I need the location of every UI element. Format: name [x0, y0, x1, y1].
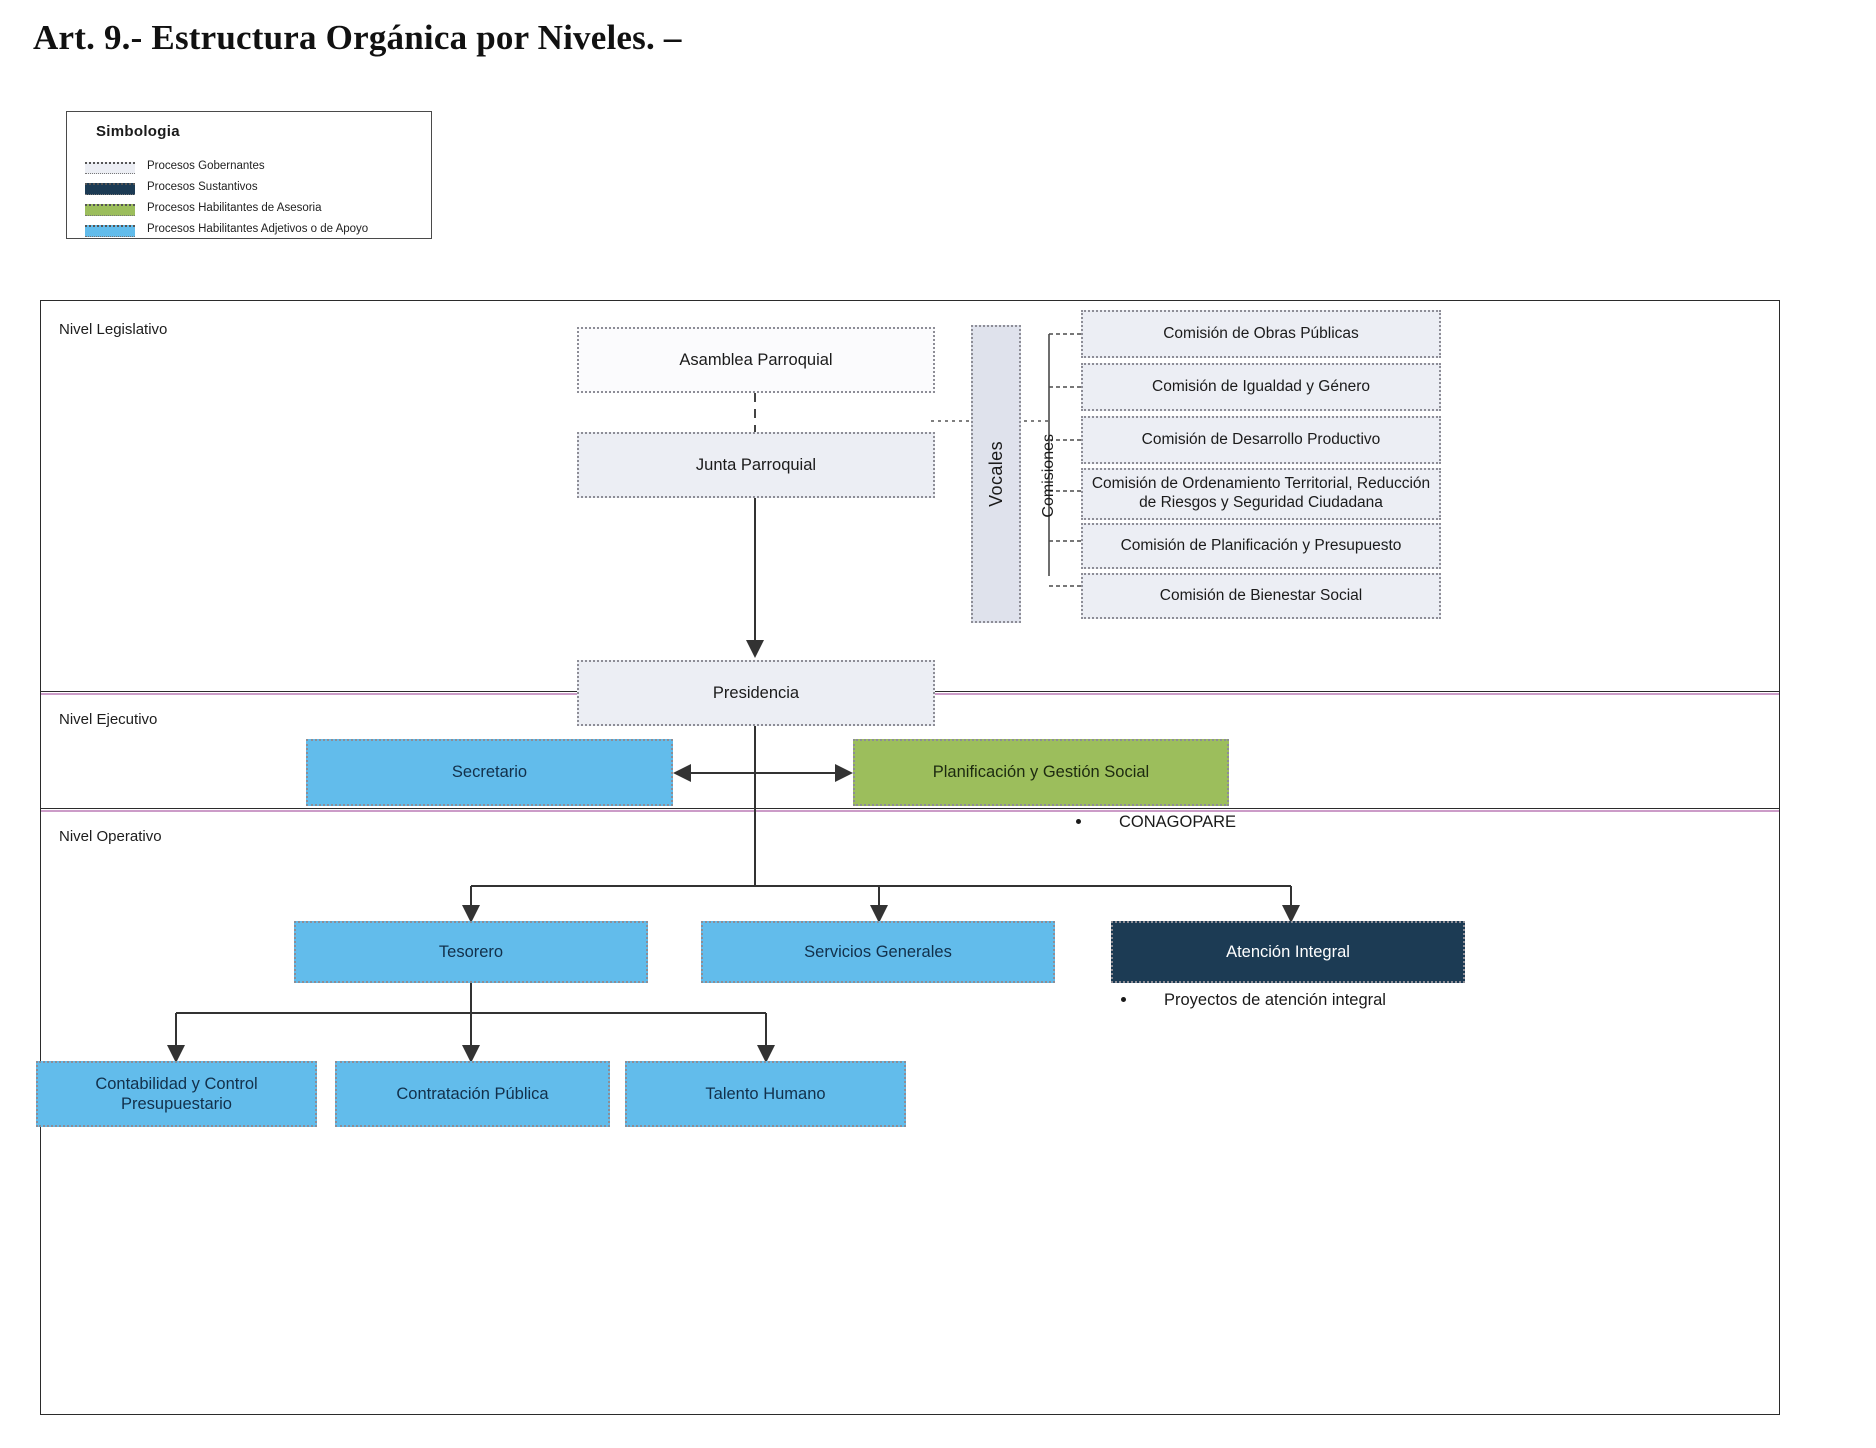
node-comision-igualdad-genero[interactable]: Comisión de Igualdad y Género — [1081, 363, 1441, 411]
legend-swatch-sustantivos — [85, 183, 135, 195]
node-comision-ordenamiento-territorial-label: Comisión de Ordenamiento Territorial, Re… — [1083, 475, 1439, 513]
node-contabilidad-control-presupuestario[interactable]: Contabilidad y Control Presupuestario — [36, 1061, 317, 1127]
legend-label-asesoria: Procesos Habilitantes de Asesoria — [147, 202, 322, 214]
bullet-proyectos-atencion-integral: Proyectos de atención integral — [1121, 991, 1386, 1010]
node-comision-desarrollo-productivo[interactable]: Comisión de Desarrollo Productivo — [1081, 416, 1441, 464]
divider-ejecutivo-operativo — [41, 808, 1779, 809]
bullet-conagopare: CONAGOPARE — [1076, 813, 1236, 832]
node-comision-bienestar-social-label: Comisión de Bienestar Social — [1152, 587, 1370, 606]
node-comision-desarrollo-productivo-label: Comisión de Desarrollo Productivo — [1134, 431, 1389, 450]
bullet-dot-icon — [1076, 819, 1081, 824]
bullet-conagopare-label: CONAGOPARE — [1119, 813, 1236, 831]
node-servicios-generales[interactable]: Servicios Generales — [701, 921, 1055, 983]
page-title: Art. 9.- Estructura Orgánica por Niveles… — [33, 18, 682, 58]
node-comision-ordenamiento-territorial[interactable]: Comisión de Ordenamiento Territorial, Re… — [1081, 468, 1441, 520]
legend-label-apoyo: Procesos Habilitantes Adjetivos o de Apo… — [147, 223, 368, 235]
node-contratacion-publica-label: Contratación Pública — [388, 1084, 556, 1104]
node-junta-parroquial-label: Junta Parroquial — [688, 455, 824, 475]
legend-label-sustantivos: Procesos Sustantivos — [147, 181, 258, 193]
node-presidencia[interactable]: Presidencia — [577, 660, 935, 726]
node-contabilidad-control-presupuestario-label: Contabilidad y Control Presupuestario — [38, 1074, 315, 1114]
node-comision-obras-publicas-label: Comisión de Obras Públicas — [1155, 325, 1367, 344]
node-asamblea-parroquial-label: Asamblea Parroquial — [671, 350, 840, 370]
node-vocales[interactable]: Vocales — [971, 325, 1021, 623]
node-presidencia-label: Presidencia — [705, 683, 807, 703]
node-junta-parroquial[interactable]: Junta Parroquial — [577, 432, 935, 498]
node-secretario[interactable]: Secretario — [306, 739, 673, 806]
level-label-operativo: Nivel Operativo — [59, 828, 162, 845]
node-atencion-integral[interactable]: Atención Integral — [1111, 921, 1465, 983]
legend-panel: Simbologia Procesos Gobernantes Procesos… — [66, 111, 432, 239]
bullet-proyectos-label: Proyectos de atención integral — [1164, 991, 1386, 1009]
node-tesorero[interactable]: Tesorero — [294, 921, 648, 983]
legend-title: Simbologia — [96, 123, 180, 140]
node-asamblea-parroquial[interactable]: Asamblea Parroquial — [577, 327, 935, 393]
node-servicios-generales-label: Servicios Generales — [796, 942, 960, 962]
legend-label-gobernantes: Procesos Gobernantes — [147, 160, 265, 172]
node-comision-bienestar-social[interactable]: Comisión de Bienestar Social — [1081, 573, 1441, 619]
node-talento-humano-label: Talento Humano — [697, 1084, 833, 1104]
legend-swatch-apoyo — [85, 225, 135, 237]
node-secretario-label: Secretario — [444, 762, 535, 782]
legend-swatch-gobernantes — [85, 162, 135, 174]
node-vocales-label: Vocales — [986, 441, 1007, 507]
node-comisiones-label: Comisiones — [1040, 434, 1058, 518]
org-chart-frame: Nivel Legislativo Nivel Ejecutivo Nivel … — [40, 300, 1780, 1415]
node-tesorero-label: Tesorero — [431, 942, 511, 962]
node-planificacion-gestion-social[interactable]: Planificación y Gestión Social — [853, 739, 1229, 806]
node-comision-planificacion-presupuesto[interactable]: Comisión de Planificación y Presupuesto — [1081, 523, 1441, 569]
legend-swatch-asesoria — [85, 204, 135, 216]
node-comision-obras-publicas[interactable]: Comisión de Obras Públicas — [1081, 310, 1441, 358]
level-label-legislativo: Nivel Legislativo — [59, 321, 167, 338]
node-planificacion-gestion-social-label: Planificación y Gestión Social — [925, 762, 1157, 782]
node-contratacion-publica[interactable]: Contratación Pública — [335, 1061, 610, 1127]
node-atencion-integral-label: Atención Integral — [1218, 942, 1358, 962]
node-comision-planificacion-presupuesto-label: Comisión de Planificación y Presupuesto — [1113, 537, 1410, 556]
node-comisiones-label-wrap: Comisiones — [1036, 416, 1062, 536]
node-comision-igualdad-genero-label: Comisión de Igualdad y Género — [1144, 378, 1378, 397]
bullet-dot-icon — [1121, 997, 1126, 1002]
node-talento-humano[interactable]: Talento Humano — [625, 1061, 906, 1127]
level-label-ejecutivo: Nivel Ejecutivo — [59, 711, 157, 728]
